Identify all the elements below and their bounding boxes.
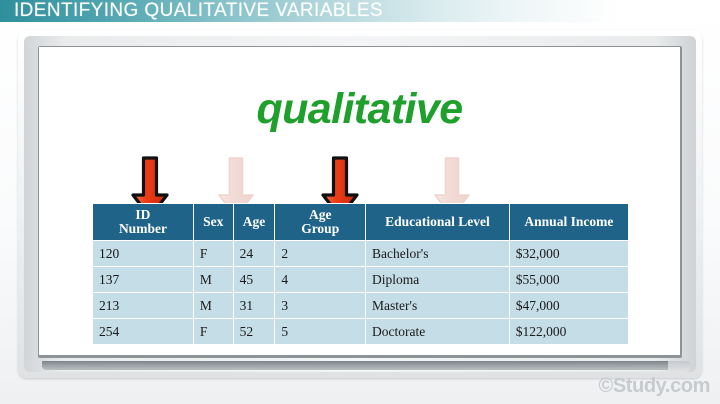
table-row: 213M313Master's$47,000 (93, 293, 628, 318)
header-line-1: ID (135, 207, 150, 222)
cell-id_number-row-2: 137 (93, 267, 193, 292)
cell-age_group-row-4: 5 (275, 319, 365, 344)
slide-title-bar: IDENTIFYING QUALITATIVE VARIABLES (0, 0, 720, 22)
whiteboard-surface: qualitative IDNumberSexAgeAgeGroupEducat… (39, 47, 680, 355)
table-header-annual_income: Annual Income (510, 204, 628, 240)
table-row: 137M454Diploma$55,000 (93, 267, 628, 292)
whiteboard-tray-cap (668, 361, 690, 372)
whiteboard-frame: qualitative IDNumberSexAgeAgeGroupEducat… (18, 30, 702, 378)
header-line-1: Age (309, 207, 332, 222)
study-com-watermark: ©Study.com (599, 375, 711, 398)
cell-age-row-2: 45 (234, 267, 275, 292)
header-line-2: Number (119, 221, 167, 236)
cell-educational_level-row-3: Master's (366, 293, 509, 318)
cell-annual_income-row-4: $122,000 (510, 319, 628, 344)
cell-age_group-row-2: 4 (275, 267, 365, 292)
slide-canvas: IDENTIFYING QUALITATIVE VARIABLES qualit… (0, 0, 720, 404)
table-header-row: IDNumberSexAgeAgeGroupEducational LevelA… (93, 204, 628, 240)
cell-id_number-row-4: 254 (93, 319, 193, 344)
table-body: 120F242Bachelor's$32,000137M454Diploma$5… (93, 241, 628, 344)
table-header-id_number: IDNumber (93, 204, 193, 240)
table-header-age_group: AgeGroup (275, 204, 365, 240)
header-line-2: Group (301, 221, 339, 236)
cell-educational_level-row-4: Doctorate (366, 319, 509, 344)
cell-annual_income-row-3: $47,000 (510, 293, 628, 318)
table-row: 254F525Doctorate$122,000 (93, 319, 628, 344)
table-row: 120F242Bachelor's$32,000 (93, 241, 628, 266)
qualitative-variables-table: IDNumberSexAgeAgeGroupEducational LevelA… (92, 203, 629, 345)
cell-id_number-row-1: 120 (93, 241, 193, 266)
cell-age_group-row-3: 3 (275, 293, 365, 318)
cell-sex-row-1: F (194, 241, 233, 266)
cell-sex-row-3: M (194, 293, 233, 318)
whiteboard-marker-tray (42, 361, 680, 370)
cell-age_group-row-1: 2 (275, 241, 365, 266)
cell-age-row-1: 24 (234, 241, 275, 266)
cell-annual_income-row-2: $55,000 (510, 267, 628, 292)
cell-sex-row-4: F (194, 319, 233, 344)
page-title: IDENTIFYING QUALITATIVE VARIABLES (14, 0, 383, 22)
cell-sex-row-2: M (194, 267, 233, 292)
cell-age-row-4: 52 (234, 319, 275, 344)
cell-educational_level-row-2: Diploma (366, 267, 509, 292)
cell-age-row-3: 31 (234, 293, 275, 318)
table-header-educational_level: Educational Level (366, 204, 509, 240)
table-header-sex: Sex (194, 204, 233, 240)
cell-educational_level-row-1: Bachelor's (366, 241, 509, 266)
heading-qualitative: qualitative (39, 85, 680, 134)
table-header-age: Age (234, 204, 275, 240)
cell-id_number-row-3: 213 (93, 293, 193, 318)
cell-annual_income-row-1: $32,000 (510, 241, 628, 266)
